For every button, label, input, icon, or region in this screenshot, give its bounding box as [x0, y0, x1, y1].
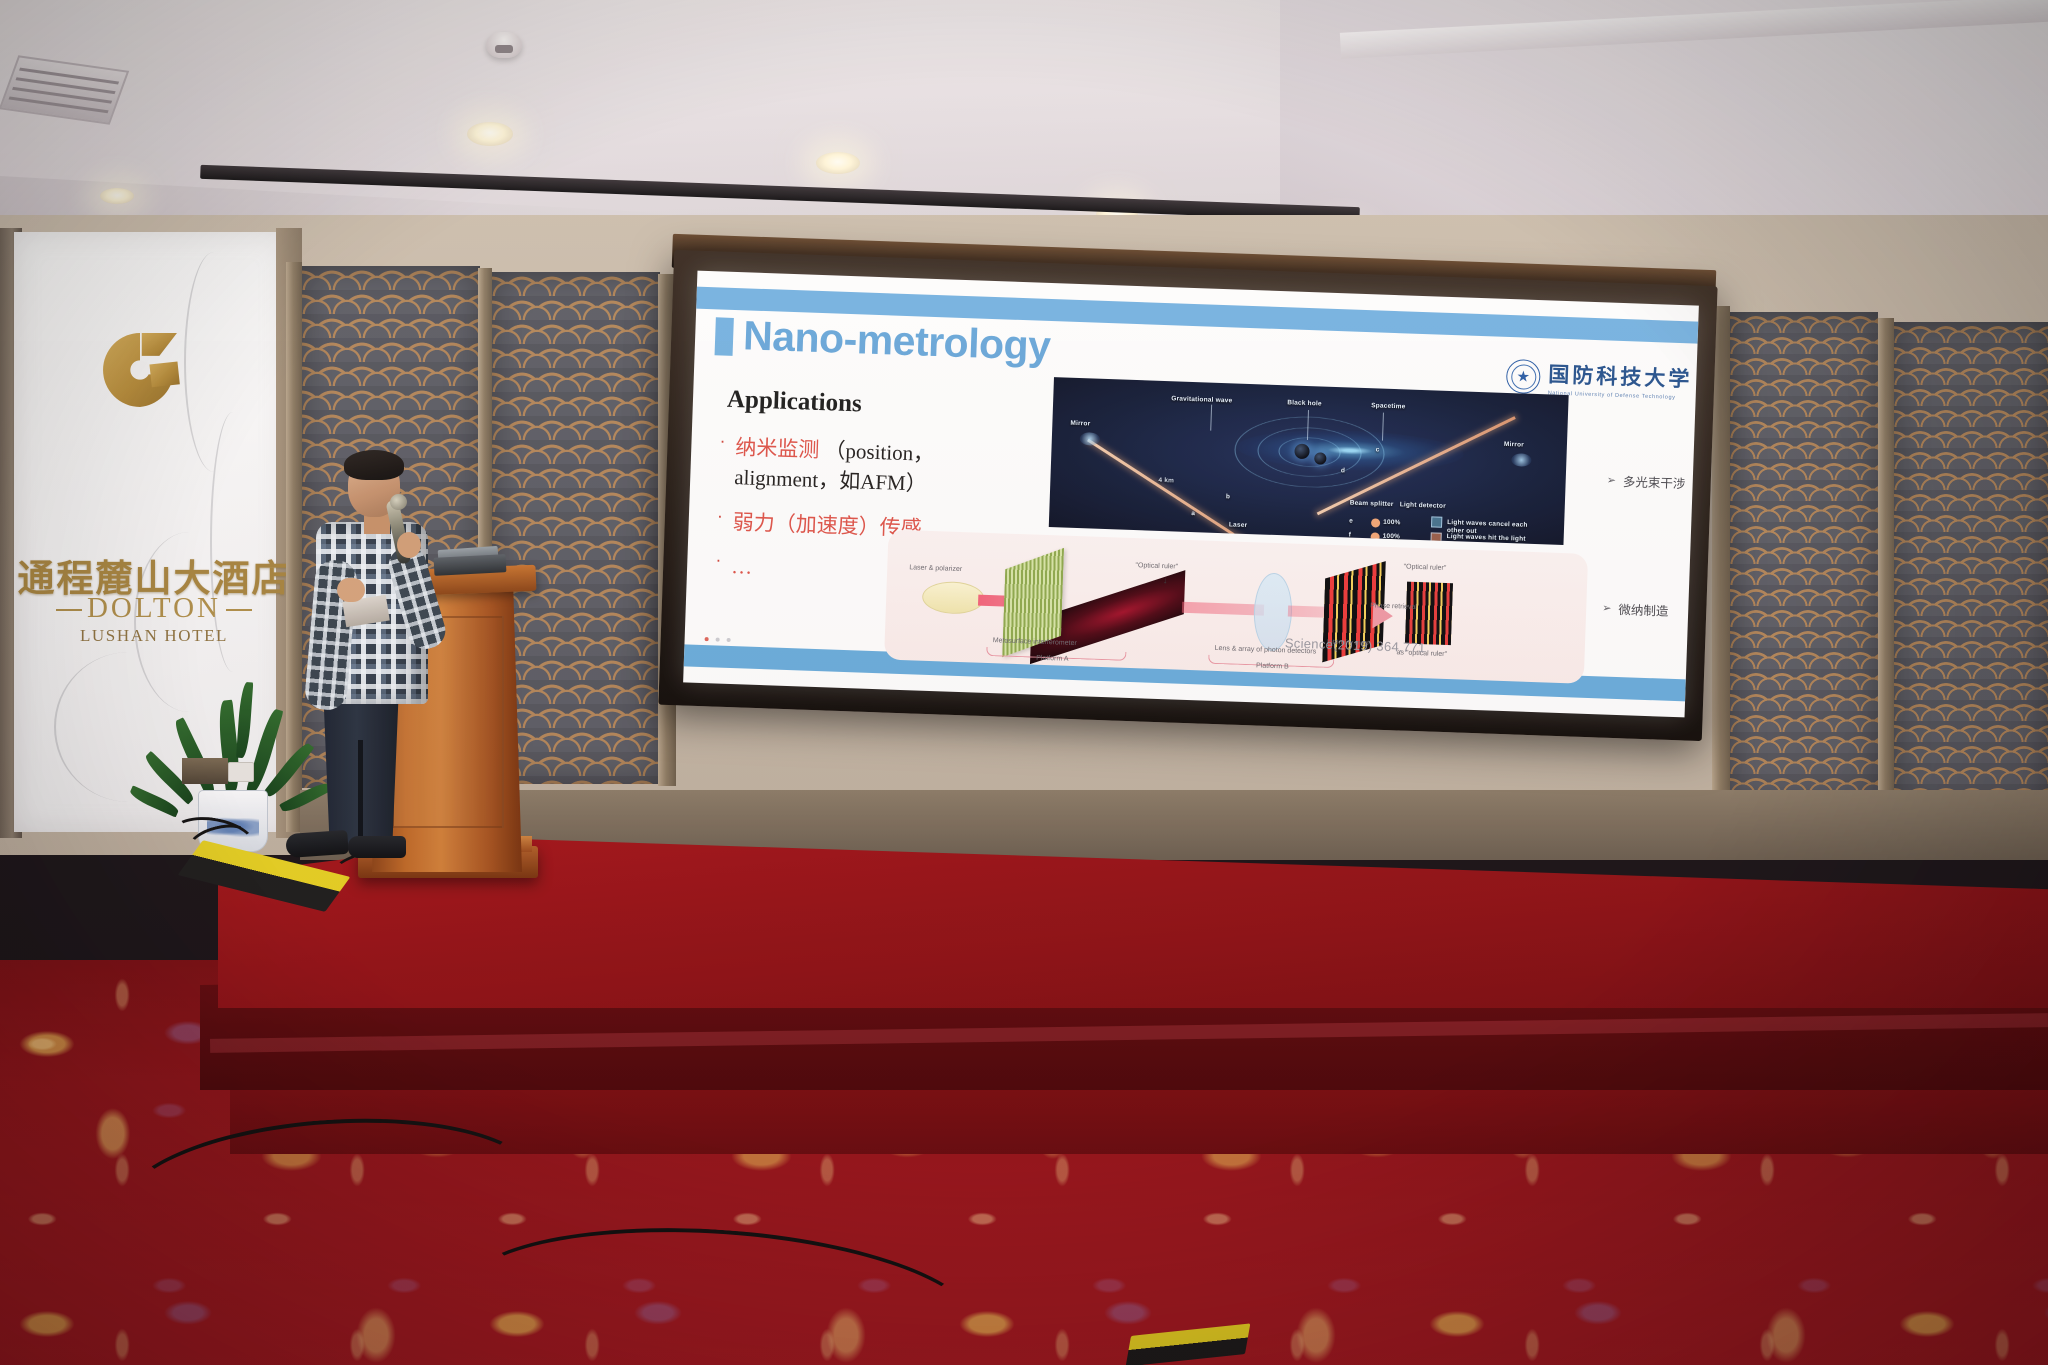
figure-label-4km: 4 km: [1158, 477, 1174, 485]
arrow-right-icon: ➢: [1602, 601, 1612, 614]
annotation-multibeam-interference: ➢ 多光束干涉: [1606, 471, 1685, 493]
wood-post: [1712, 306, 1730, 802]
fish-scale-lattice-panel-icon: [1894, 322, 2048, 814]
speaker-shoe-right: [348, 836, 406, 858]
figure-label-black-hole: Black hole: [1287, 399, 1322, 407]
slide-section-heading: Applications: [727, 386, 863, 419]
recessed-downlight-icon: [100, 188, 134, 204]
laser-beam: [1182, 602, 1264, 616]
list-item: · 纳米监测 （position，alignment，如AFM）: [718, 432, 1010, 503]
bullet-marker: ·: [718, 432, 726, 493]
speaker-hair: [344, 450, 404, 480]
figure-label-laser: Laser: [1229, 521, 1248, 529]
hotel-subtitle: LUSHAN HOTEL: [10, 626, 298, 646]
annotation-micro-nano-fabrication: ➢ 微纳制造: [1602, 598, 1669, 619]
figure-label-mirror-right: Mirror: [1504, 441, 1524, 449]
ligo-interferometer-figure: Gravitational wave Black hole Spacetime …: [1049, 377, 1569, 545]
figure-label-platform-a: Platform A: [1036, 655, 1069, 663]
annotation-label: 多光束干涉: [1623, 471, 1686, 492]
bullet-text-cn: …: [731, 554, 753, 579]
figure-label-optical-ruler: "Optical ruler": [1135, 562, 1178, 570]
hotel-name-en: DOLTON: [10, 592, 298, 625]
down-arrow-icon: ↓: [1163, 575, 1168, 585]
speaker-hand-right: [397, 532, 421, 558]
fish-scale-lattice-panel-icon: [492, 272, 660, 784]
speaker-hand-left: [337, 578, 365, 602]
bullet-text-cn: 纳米监测: [735, 435, 820, 462]
mirror-right: [1511, 453, 1531, 467]
figure-label-laser-polarizer: Laser & polarizer: [909, 564, 962, 573]
wall-cable-plate: [182, 758, 228, 784]
nudt-seal-circle: ★: [1506, 359, 1541, 394]
figure-label-beam-splitter: Beam splitter: [1350, 500, 1394, 509]
presentation-slide: Nano-metrology Applications · 纳米监测 （posi…: [683, 271, 1699, 718]
laptop-base: [434, 554, 507, 576]
recessed-downlight-icon: [467, 122, 513, 146]
figure-label-mirror-left: Mirror: [1070, 420, 1090, 428]
recessed-downlight-icon: [816, 152, 860, 174]
wood-post: [286, 262, 302, 832]
star-icon: ★: [1516, 369, 1530, 384]
speaker-shoe-left: [285, 830, 349, 858]
slide-title: Nano-metrology: [742, 312, 1051, 370]
dolton-gold-emblem-icon: [96, 326, 184, 414]
bullet-marker: ·: [716, 506, 723, 537]
bullet-marker: ·: [715, 551, 722, 582]
optical-ruler-output: [1405, 582, 1453, 646]
fish-scale-lattice-panel-icon: [1730, 312, 1878, 804]
org-name-cn: 国防科技大学: [1548, 358, 1693, 393]
slide-footer-markers: [705, 637, 731, 642]
smoke-detector-icon: [486, 32, 522, 58]
laser-source: [922, 581, 985, 615]
wall-power-socket[interactable]: [228, 762, 254, 782]
metasurface-interferometer-figure: Laser & polarizer "Optical ruler" ↓ Meta…: [884, 529, 1588, 683]
figure-label-light-detector: Light detector: [1400, 501, 1446, 510]
slide-title-accent-bar: [715, 317, 734, 356]
conference-hall-photo: 通程麓山大酒店 DOLTON LUSHAN HOTEL Nano-metrolo…: [0, 0, 2048, 1365]
arrow-right-icon: ➢: [1607, 474, 1617, 487]
figure-label-optical-ruler-2: "Optical ruler": [1403, 563, 1446, 571]
figure-label-platform-b: Platform B: [1256, 662, 1289, 670]
annotation-label: 微纳制造: [1618, 599, 1669, 620]
wood-post: [1878, 318, 1894, 810]
figure-label-spacetime: Spacetime: [1371, 402, 1406, 410]
figure-label-gravitational-wave: Gravitational wave: [1171, 395, 1232, 404]
hotel-name-en-text: DOLTON: [87, 592, 221, 624]
